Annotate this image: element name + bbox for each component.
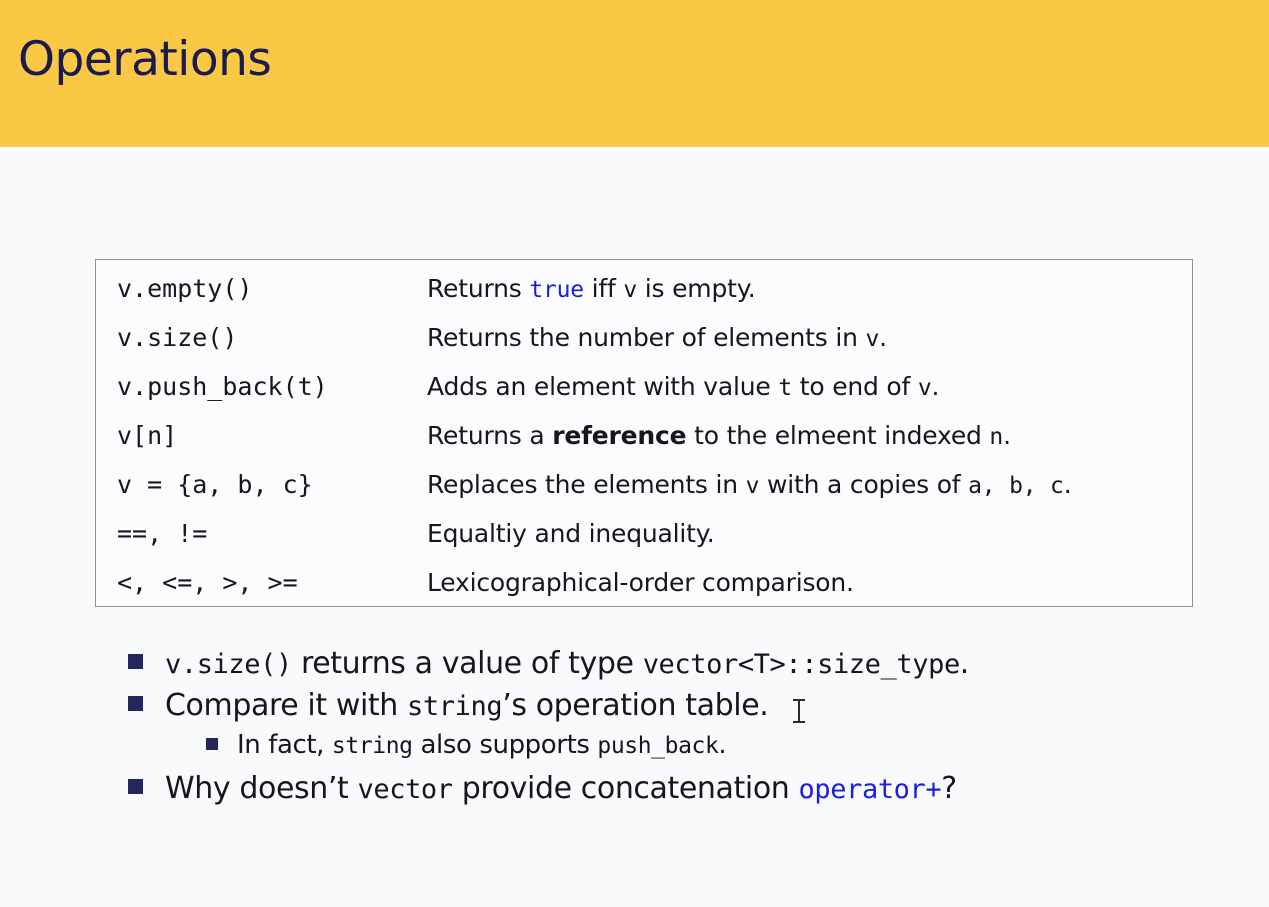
text-run: Returns a xyxy=(427,421,552,450)
list-item-label: v.size() returns a value of type vector<… xyxy=(165,647,969,680)
keyword-true: true xyxy=(529,277,584,303)
inline-code: v.size() xyxy=(165,649,292,680)
table-row: v.push_back(t)Adds an element with value… xyxy=(96,372,1192,421)
operation-description: Replaces the elements in v with a copies… xyxy=(427,470,1192,499)
bullet-square-icon xyxy=(128,654,143,669)
page-title: Operations xyxy=(18,36,271,83)
emphasis-text: reference xyxy=(552,421,686,450)
list-item-label: Compare it with string’s operation table… xyxy=(165,689,768,722)
slide-header-band: Operations xyxy=(0,0,1269,147)
operation-signature: v.push_back(t) xyxy=(117,372,427,401)
text-run: is empty. xyxy=(637,274,755,303)
operation-signature: v = {a, b, c} xyxy=(117,470,427,499)
bullet-square-icon xyxy=(128,779,143,794)
text-run: Why doesn’t xyxy=(165,771,358,806)
list-item-label: In fact, string also supports push_back. xyxy=(237,731,726,760)
inline-code: v xyxy=(746,473,760,499)
inline-code-link: operator+ xyxy=(799,774,942,805)
inline-code: v xyxy=(918,375,932,401)
table-row: v.size()Returns the number of elements i… xyxy=(96,323,1192,372)
table-row: ==, !=Equaltiy and inequality. xyxy=(96,519,1192,568)
inline-code: string xyxy=(407,691,502,722)
text-run: . xyxy=(932,372,940,401)
list-item: Why doesn’t vector provide concatenation… xyxy=(128,772,1218,805)
text-run: Replaces the elements in xyxy=(427,470,746,499)
operation-signature: v.empty() xyxy=(117,274,427,303)
table-row: v.empty()Returns true iff v is empty. xyxy=(96,274,1192,323)
operation-description: Equaltiy and inequality. xyxy=(427,519,1192,548)
inline-code: a, b, c xyxy=(968,473,1064,499)
text-run: . xyxy=(718,730,726,760)
operation-signature: v[n] xyxy=(117,421,427,450)
bullet-square-icon xyxy=(206,738,218,750)
operation-signature: v.size() xyxy=(117,323,427,352)
inline-code: string xyxy=(332,733,413,759)
list-item: v.size() returns a value of type vector<… xyxy=(128,647,1218,680)
operation-description: Returns the number of elements in v. xyxy=(427,323,1192,352)
text-run: Compare it with xyxy=(165,688,407,723)
bullet-square-icon xyxy=(128,696,143,711)
table-row: <, <=, >, >=Lexicographical-order compar… xyxy=(96,568,1192,617)
inline-code: vector xyxy=(358,774,453,805)
text-run: ? xyxy=(941,771,957,806)
operation-signature: <, <=, >, >= xyxy=(117,568,427,597)
text-run: to the elmeent indexed xyxy=(686,421,989,450)
inline-code: vector<T>::size_type xyxy=(643,649,960,680)
text-run: . xyxy=(1064,470,1072,499)
bullet-list: v.size() returns a value of type vector<… xyxy=(128,647,1218,814)
text-run: Returns the number of elements in xyxy=(427,323,865,352)
text-run: . xyxy=(960,646,969,681)
inline-code: n xyxy=(989,424,1003,450)
text-run: Adds an element with value xyxy=(427,372,778,401)
operation-description: Returns true iff v is empty. xyxy=(427,274,1192,303)
text-run: In fact, xyxy=(237,730,332,760)
list-item-label: Why doesn’t vector provide concatenation… xyxy=(165,772,957,805)
text-run: with a copies of xyxy=(759,470,968,499)
table-row: v = {a, b, c}Replaces the elements in v … xyxy=(96,470,1192,519)
operation-description: Lexicographical-order comparison. xyxy=(427,568,1192,597)
list-item: Compare it with string’s operation table… xyxy=(128,689,1218,722)
text-run: Returns xyxy=(427,274,529,303)
slide-body: v.empty()Returns true iff v is empty.v.s… xyxy=(0,147,1269,907)
inline-code: t xyxy=(778,375,792,401)
text-run: ’s operation table. xyxy=(502,688,768,723)
text-run: . xyxy=(1003,421,1011,450)
inline-code: push_back xyxy=(597,733,718,759)
inline-code: v xyxy=(623,277,637,303)
text-run: returns a value of type xyxy=(292,646,643,681)
text-run: Lexicographical-order comparison. xyxy=(427,568,854,597)
text-run: to end of xyxy=(792,372,918,401)
text-run: . xyxy=(879,323,887,352)
list-item: In fact, string also supports push_back. xyxy=(206,731,1218,760)
text-run: also supports xyxy=(413,730,598,760)
operation-description: Returns a reference to the elmeent index… xyxy=(427,421,1192,450)
operations-table: v.empty()Returns true iff v is empty.v.s… xyxy=(95,259,1193,607)
table-row: v[n]Returns a reference to the elmeent i… xyxy=(96,421,1192,470)
operation-signature: ==, != xyxy=(117,519,427,548)
text-run: iff xyxy=(584,274,623,303)
text-run: Equaltiy and inequality. xyxy=(427,519,715,548)
inline-code: v xyxy=(865,326,879,352)
text-run: provide concatenation xyxy=(453,771,799,806)
operation-description: Adds an element with value t to end of v… xyxy=(427,372,1192,401)
